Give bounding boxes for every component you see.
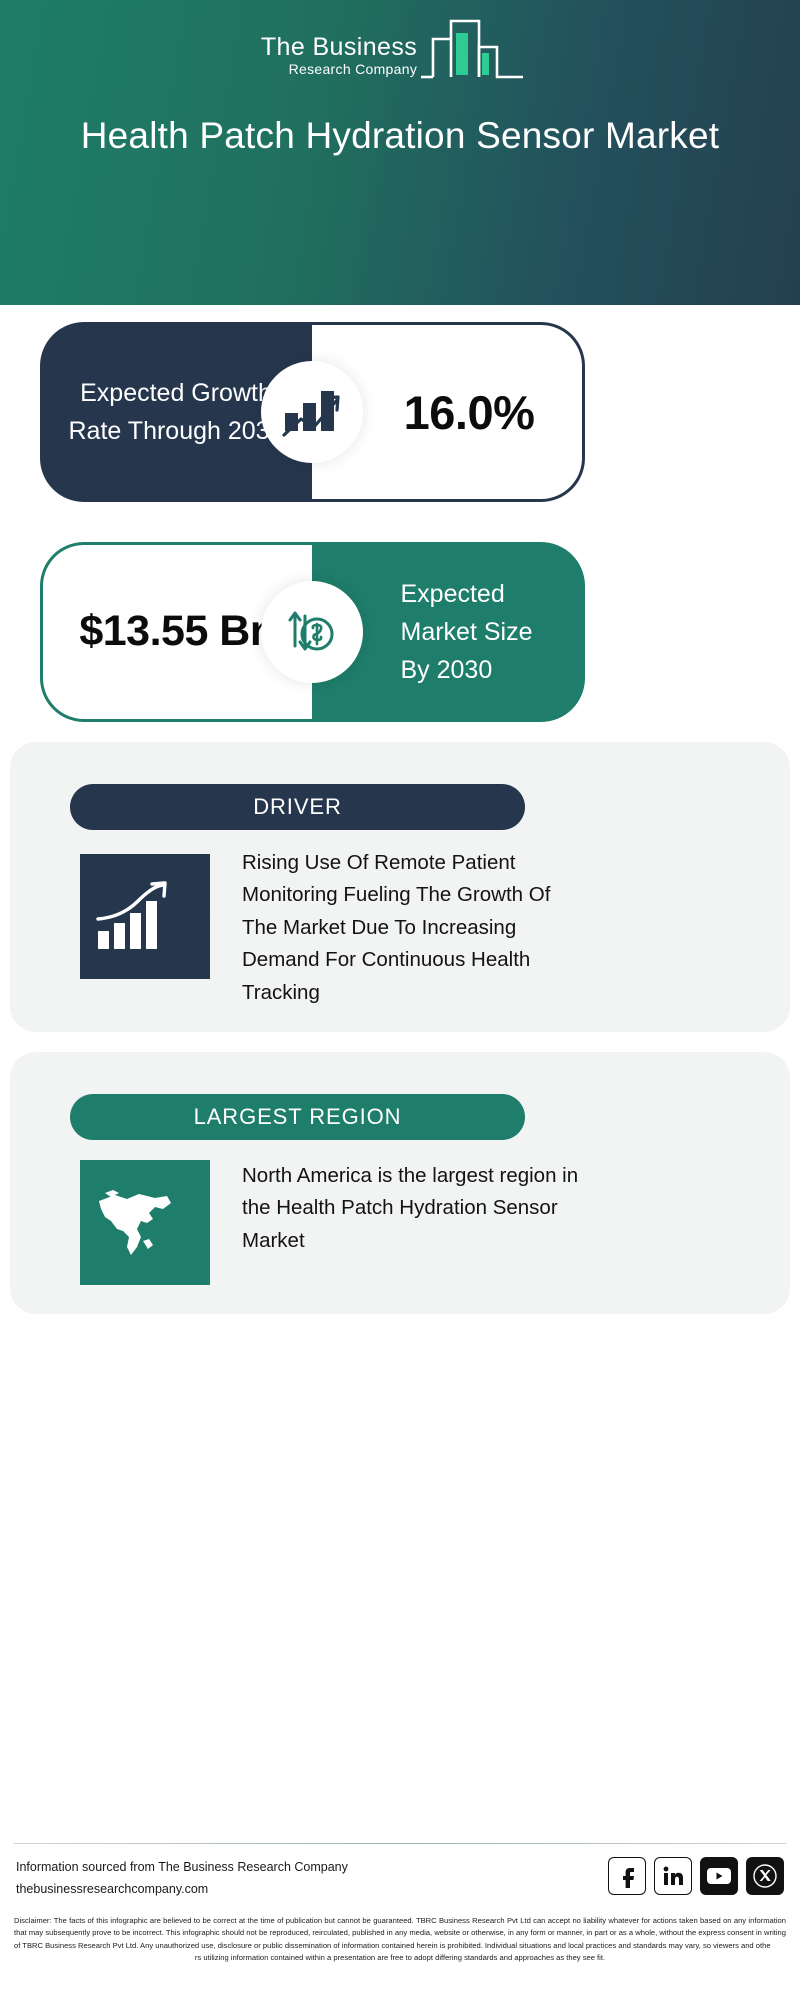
- linkedin-icon[interactable]: [654, 1857, 692, 1895]
- bar-chart-growth-icon: [80, 854, 210, 979]
- youtube-icon[interactable]: [700, 1857, 738, 1895]
- stat-card-market-size: $13.55 Bn Expected Market Size By 2030: [40, 542, 585, 722]
- x-twitter-icon[interactable]: [746, 1857, 784, 1895]
- stat-value: 16.0%: [360, 385, 535, 440]
- company-logo: The Business Research Company: [261, 22, 539, 84]
- logo-line-2: Research Company: [289, 61, 418, 79]
- disclaimer-main: Disclaimer: The facts of this infographi…: [14, 1916, 786, 1950]
- footer-website[interactable]: thebusinessresearchcompany.com: [16, 1879, 348, 1901]
- dollar-cycle-icon: [261, 581, 363, 683]
- driver-pill: DRIVER: [70, 784, 525, 830]
- largest-region-pill-label: LARGEST REGION: [194, 1104, 402, 1130]
- footer-source-line: Information sourced from The Business Re…: [16, 1857, 348, 1879]
- largest-region-panel: LARGEST REGION North America is the larg…: [10, 1052, 790, 1314]
- region-body-text: North America is the largest region in t…: [242, 1160, 582, 1257]
- logo-wordmark: The Business Research Company: [261, 34, 417, 84]
- driver-icon-container: [80, 854, 210, 979]
- stat-value: $13.55 Bn: [70, 604, 285, 659]
- logo-line-1: The Business: [261, 34, 417, 60]
- driver-pill-label: DRIVER: [253, 794, 342, 820]
- social-links: [608, 1857, 784, 1895]
- footer-source-block: Information sourced from The Business Re…: [16, 1857, 348, 1901]
- region-icon-container: [80, 1160, 210, 1285]
- disclaimer-text: Disclaimer: The facts of this infographi…: [14, 1915, 786, 1964]
- largest-region-pill: LARGEST REGION: [70, 1094, 525, 1140]
- stat-card-growth-rate: Expected Growth Rate Through 2030 16.0%: [40, 322, 585, 502]
- facebook-icon[interactable]: [608, 1857, 646, 1895]
- bar-chart-logo-icon: [421, 17, 539, 84]
- header-banner: The Business Research Company Health Pat…: [0, 0, 800, 305]
- infographic-page: The Business Research Company Health Pat…: [0, 0, 800, 2000]
- stat-label: Expected Growth Rate Through 2030: [61, 374, 291, 450]
- disclaimer-last-line: rs utilizing information contained withi…: [14, 1952, 786, 1964]
- footer-divider: [14, 1843, 786, 1844]
- page-title: Health Patch Hydration Sensor Market: [50, 112, 750, 161]
- growth-chart-arrow-icon: [261, 361, 363, 463]
- driver-body-text: Rising Use Of Remote Patient Monitoring …: [242, 847, 582, 1009]
- north-america-map-icon: [80, 1160, 210, 1285]
- stat-label: Expected Market Size By 2030: [351, 575, 547, 689]
- driver-panel: DRIVER Rising Use Of Remote Patient Moni…: [10, 742, 790, 1032]
